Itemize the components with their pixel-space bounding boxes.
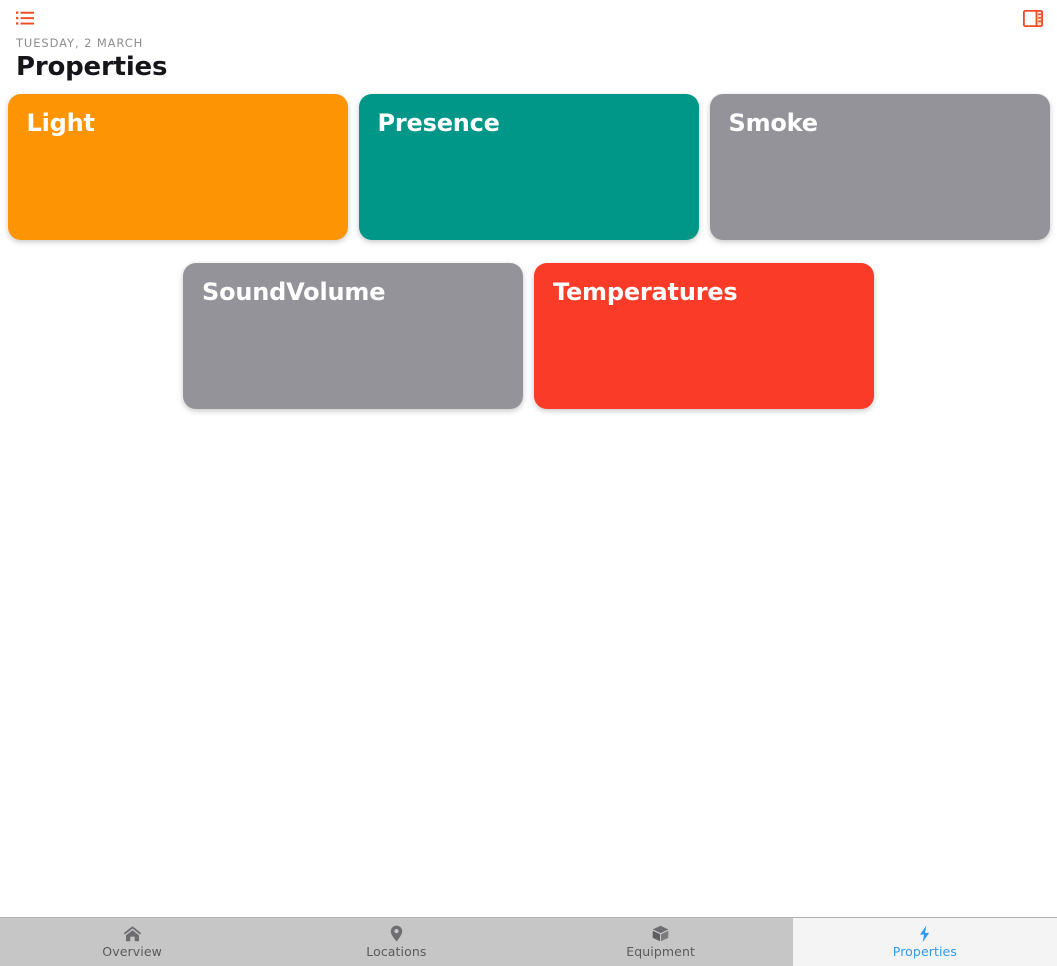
- tab-locations[interactable]: Locations: [264, 918, 528, 966]
- app-root: TUESDAY, 2 MARCH Properties Light Presen…: [0, 0, 1057, 966]
- property-card-title: Light: [27, 108, 95, 138]
- lightning-icon: [918, 925, 931, 942]
- page-header: TUESDAY, 2 MARCH Properties: [0, 36, 1057, 83]
- split-panel-icon[interactable]: [1023, 10, 1043, 27]
- card-row-1: Light Presence Smoke: [0, 94, 1057, 240]
- top-bar: [0, 0, 1057, 36]
- property-card-light[interactable]: Light: [8, 94, 348, 240]
- split-panel-icon-glyph: [1023, 10, 1043, 27]
- tab-properties[interactable]: Properties: [793, 918, 1057, 966]
- map-pin-icon-glyph: [390, 925, 403, 942]
- tab-overview[interactable]: Overview: [0, 918, 264, 966]
- card-row-2: SoundVolume Temperatures: [0, 263, 1057, 409]
- property-card-title: Temperatures: [553, 277, 738, 307]
- box-icon-glyph: [652, 925, 669, 942]
- property-card-smoke[interactable]: Smoke: [710, 94, 1050, 240]
- box-icon: [652, 925, 669, 942]
- property-card-presence[interactable]: Presence: [359, 94, 699, 240]
- list-icon[interactable]: [16, 11, 34, 26]
- tab-label: Locations: [366, 944, 426, 959]
- tab-label: Equipment: [626, 944, 695, 959]
- property-card-temperatures[interactable]: Temperatures: [534, 263, 874, 409]
- home-icon: [123, 925, 142, 942]
- property-card-area: Light Presence Smoke SoundVolume Tempera…: [0, 83, 1057, 917]
- tab-equipment[interactable]: Equipment: [529, 918, 793, 966]
- map-pin-icon: [390, 925, 403, 942]
- tab-label: Overview: [102, 944, 162, 959]
- page-title: Properties: [16, 51, 1041, 83]
- tab-label: Properties: [893, 944, 957, 959]
- home-icon-glyph: [123, 925, 142, 942]
- header-date: TUESDAY, 2 MARCH: [16, 36, 1041, 50]
- property-card-title: Smoke: [729, 108, 818, 138]
- property-card-title: Presence: [378, 108, 500, 138]
- property-card-soundvolume[interactable]: SoundVolume: [183, 263, 523, 409]
- bottom-tab-bar: Overview Locations Equipment: [0, 917, 1057, 966]
- list-icon-glyph: [16, 11, 34, 26]
- property-card-title: SoundVolume: [202, 277, 385, 307]
- lightning-icon-glyph: [918, 925, 931, 943]
